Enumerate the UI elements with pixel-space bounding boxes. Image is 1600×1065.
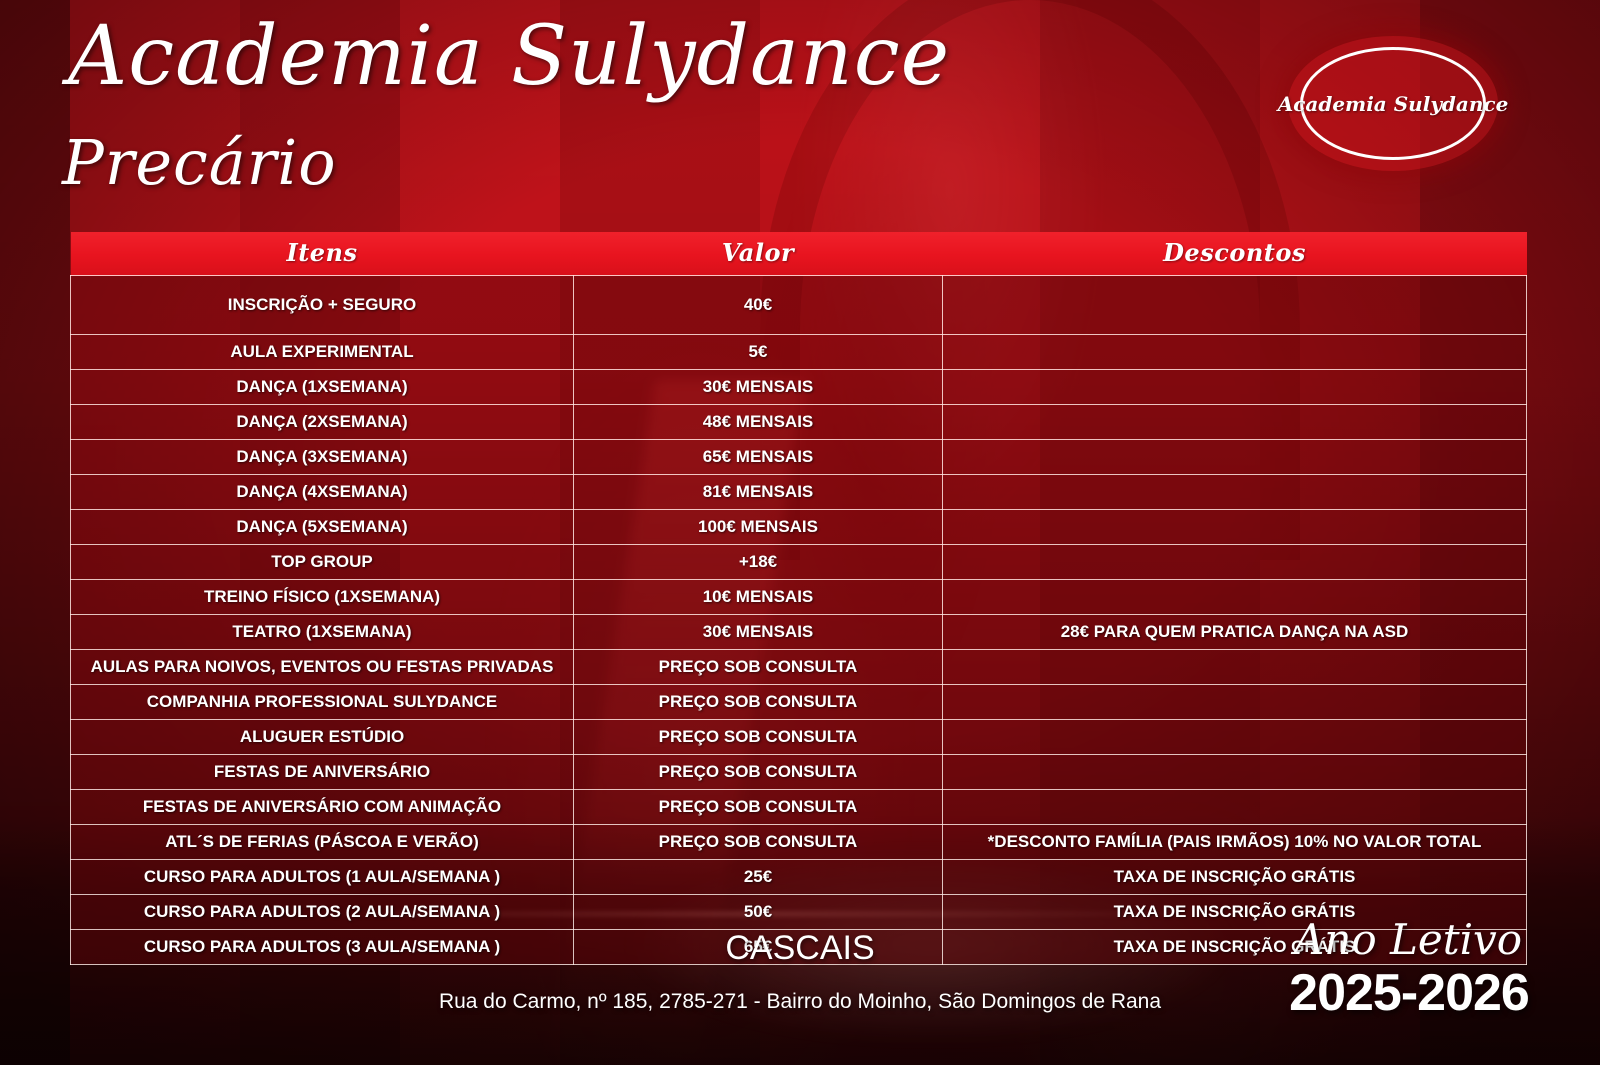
- cell-discount: [943, 545, 1527, 580]
- cell-discount: 28€ PARA QUEM PRATICA DANÇA NA ASD: [943, 615, 1527, 650]
- cell-discount: [943, 580, 1527, 615]
- table-row: COMPANHIA PROFESSIONAL SULYDANCEPREÇO SO…: [71, 685, 1527, 720]
- cell-item: INSCRIÇÃO + SEGURO: [71, 276, 574, 335]
- page-title: Academia Sulydance: [68, 16, 950, 98]
- cell-item: CURSO PARA ADULTOS (1 AULA/SEMANA ): [71, 860, 574, 895]
- price-table: Itens Valor Descontos INSCRIÇÃO + SEGURO…: [70, 232, 1527, 965]
- cell-value: PREÇO SOB CONSULTA: [574, 790, 943, 825]
- pricing-poster: Academia Sulydance Precário Academia Sul…: [0, 0, 1600, 1065]
- cell-value: PREÇO SOB CONSULTA: [574, 650, 943, 685]
- table-row: DANÇA (1XSEMANA)30€ MENSAIS: [71, 370, 1527, 405]
- cell-discount: [943, 276, 1527, 335]
- cell-value: 81€ MENSAIS: [574, 475, 943, 510]
- price-table-head: Itens Valor Descontos: [71, 232, 1527, 276]
- cell-discount: [943, 370, 1527, 405]
- cell-item: DANÇA (3XSEMANA): [71, 440, 574, 475]
- cell-value: +18€: [574, 545, 943, 580]
- cell-discount: [943, 650, 1527, 685]
- cell-value: 48€ MENSAIS: [574, 405, 943, 440]
- cell-value: 40€: [574, 276, 943, 335]
- cell-discount: *DESCONTO FAMÍLIA (PAIS IRMÃOS) 10% NO V…: [943, 825, 1527, 860]
- cell-item: ALUGUER ESTÚDIO: [71, 720, 574, 755]
- cell-item: DANÇA (4XSEMANA): [71, 475, 574, 510]
- cell-value: 10€ MENSAIS: [574, 580, 943, 615]
- cell-item: AULA EXPERIMENTAL: [71, 335, 574, 370]
- cell-item: DANÇA (1XSEMANA): [71, 370, 574, 405]
- table-row: DANÇA (5XSEMANA)100€ MENSAIS: [71, 510, 1527, 545]
- column-header-itens: Itens: [71, 232, 574, 276]
- cell-discount: [943, 510, 1527, 545]
- table-row: TREINO FÍSICO (1XSEMANA)10€ MENSAIS: [71, 580, 1527, 615]
- cell-item: TOP GROUP: [71, 545, 574, 580]
- table-row: AULA EXPERIMENTAL5€: [71, 335, 1527, 370]
- logo: Academia Sulydance: [1288, 36, 1498, 171]
- table-row: DANÇA (2XSEMANA)48€ MENSAIS: [71, 405, 1527, 440]
- cell-item: COMPANHIA PROFESSIONAL SULYDANCE: [71, 685, 574, 720]
- cell-item: ATL´S DE FERIAS (PÁSCOA E VERÃO): [71, 825, 574, 860]
- cell-discount: [943, 405, 1527, 440]
- table-row: TEATRO (1XSEMANA)30€ MENSAIS28€ PARA QUE…: [71, 615, 1527, 650]
- cell-item: AULAS PARA NOIVOS, EVENTOS OU FESTAS PRI…: [71, 650, 574, 685]
- cell-item: FESTAS DE ANIVERSÁRIO: [71, 755, 574, 790]
- table-row: CURSO PARA ADULTOS (1 AULA/SEMANA )25€TA…: [71, 860, 1527, 895]
- cell-discount: [943, 685, 1527, 720]
- price-table-wrapper: Itens Valor Descontos INSCRIÇÃO + SEGURO…: [70, 232, 1526, 965]
- school-year-value: 2025-2026: [1284, 967, 1534, 1019]
- table-row: DANÇA (3XSEMANA)65€ MENSAIS: [71, 440, 1527, 475]
- cell-discount: [943, 755, 1527, 790]
- cell-value: PREÇO SOB CONSULTA: [574, 720, 943, 755]
- column-header-descontos: Descontos: [943, 232, 1527, 276]
- cell-discount: [943, 335, 1527, 370]
- column-header-valor: Valor: [574, 232, 943, 276]
- logo-label: Academia Sulydance: [1278, 92, 1509, 116]
- table-row: FESTAS DE ANIVERSÁRIO COM ANIMAÇÃOPREÇO …: [71, 790, 1527, 825]
- cell-value: 65€ MENSAIS: [574, 440, 943, 475]
- cell-item: DANÇA (2XSEMANA): [71, 405, 574, 440]
- cell-value: 5€: [574, 335, 943, 370]
- cell-discount: [943, 440, 1527, 475]
- table-row: ATL´S DE FERIAS (PÁSCOA E VERÃO)PREÇO SO…: [71, 825, 1527, 860]
- table-row: FESTAS DE ANIVERSÁRIOPREÇO SOB CONSULTA: [71, 755, 1527, 790]
- cell-value: 30€ MENSAIS: [574, 615, 943, 650]
- cell-value: 30€ MENSAIS: [574, 370, 943, 405]
- cell-discount: [943, 475, 1527, 510]
- cell-value: PREÇO SOB CONSULTA: [574, 825, 943, 860]
- table-row: INSCRIÇÃO + SEGURO40€: [71, 276, 1527, 335]
- price-table-body: INSCRIÇÃO + SEGURO40€AULA EXPERIMENTAL5€…: [71, 276, 1527, 965]
- cell-discount: TAXA DE INSCRIÇÃO GRÁTIS: [943, 860, 1527, 895]
- table-row: ALUGUER ESTÚDIOPREÇO SOB CONSULTA: [71, 720, 1527, 755]
- cell-value: 100€ MENSAIS: [574, 510, 943, 545]
- cell-item: FESTAS DE ANIVERSÁRIO COM ANIMAÇÃO: [71, 790, 574, 825]
- cell-value: PREÇO SOB CONSULTA: [574, 755, 943, 790]
- cell-item: TREINO FÍSICO (1XSEMANA): [71, 580, 574, 615]
- page-subtitle: Precário: [62, 132, 337, 194]
- poster-header: Academia Sulydance Precário Academia Sul…: [0, 0, 1600, 230]
- cell-item: TEATRO (1XSEMANA): [71, 615, 574, 650]
- cell-value: PREÇO SOB CONSULTA: [574, 685, 943, 720]
- cell-discount: [943, 720, 1527, 755]
- table-row: TOP GROUP+18€: [71, 545, 1527, 580]
- table-header-row: Itens Valor Descontos: [71, 232, 1527, 276]
- cell-discount: [943, 790, 1527, 825]
- table-row: AULAS PARA NOIVOS, EVENTOS OU FESTAS PRI…: [71, 650, 1527, 685]
- school-year-label: Ano Letivo: [1288, 919, 1528, 961]
- poster-footer: CASCAIS Rua do Carmo, nº 185, 2785-271 -…: [0, 925, 1600, 1065]
- cell-item: DANÇA (5XSEMANA): [71, 510, 574, 545]
- cell-value: 25€: [574, 860, 943, 895]
- table-row: DANÇA (4XSEMANA)81€ MENSAIS: [71, 475, 1527, 510]
